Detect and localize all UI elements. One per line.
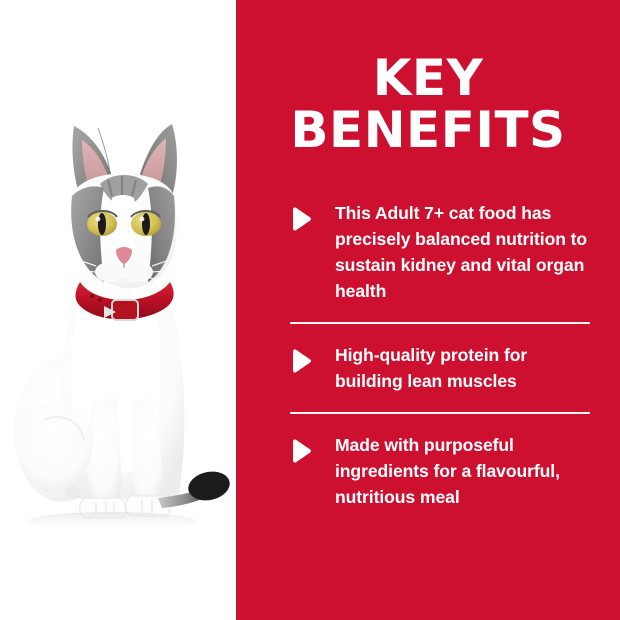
triangle-right-icon <box>290 349 313 373</box>
triangle-right-icon <box>290 207 313 231</box>
cat-illustration <box>0 0 236 620</box>
benefit-item-1: This Adult 7+ cat food has precisely bal… <box>236 200 620 304</box>
benefits-list: This Adult 7+ cat food has precisely bal… <box>236 200 620 510</box>
cat-head <box>42 124 206 292</box>
page-title-line-2: BENEFITS <box>236 104 620 156</box>
benefit-text-1: This Adult 7+ cat food has precisely bal… <box>335 200 593 304</box>
benefit-text-3: Made with purposeful ingredients for a f… <box>335 432 593 510</box>
cat-photo <box>0 0 236 620</box>
benefit-item-2: High-quality protein for building lean m… <box>236 342 620 394</box>
product-benefits-panel: KEY BENEFITS This Adult 7+ cat food has … <box>0 0 620 620</box>
benefit-divider-2 <box>290 412 590 414</box>
benefit-divider-1 <box>290 322 590 324</box>
benefit-text-2: High-quality protein for building lean m… <box>335 342 593 394</box>
page-title: KEY BENEFITS <box>236 52 620 156</box>
benefits-content-panel: KEY BENEFITS This Adult 7+ cat food has … <box>236 0 620 620</box>
cat-photo-panel <box>0 0 236 620</box>
page-title-line-1: KEY <box>236 52 620 104</box>
benefit-item-3: Made with purposeful ingredients for a f… <box>236 432 620 510</box>
triangle-right-icon <box>290 439 313 463</box>
